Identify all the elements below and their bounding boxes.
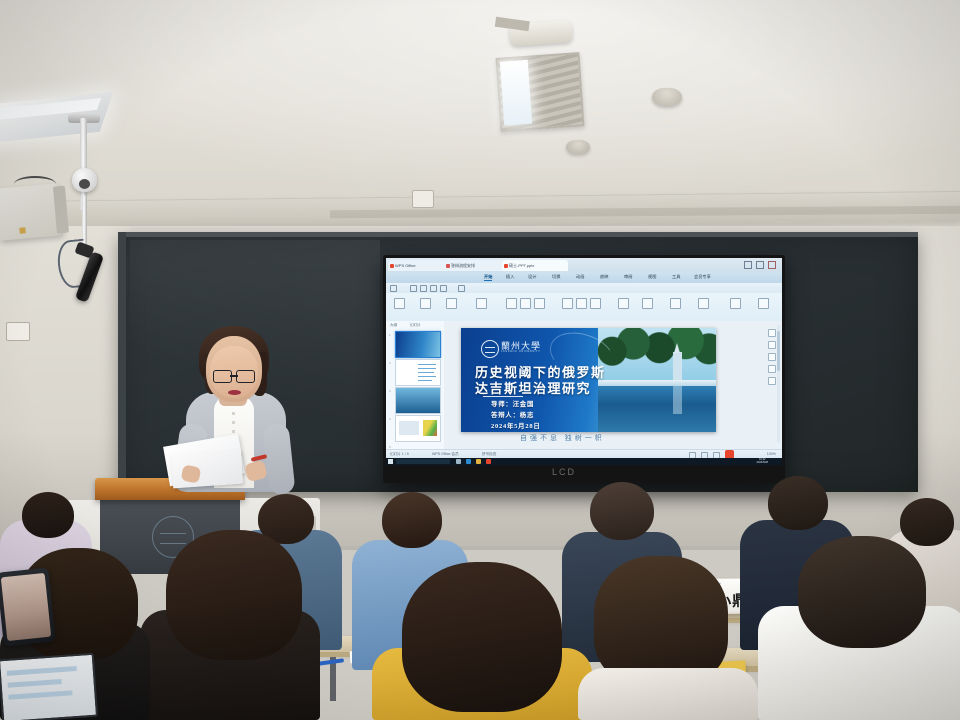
university-motto: 自强不息 独树一帜 — [520, 433, 605, 443]
audience-torso — [578, 668, 758, 720]
taskbar-search-input[interactable] — [396, 459, 450, 464]
thumb-number: 4 — [389, 417, 391, 421]
maximize-icon[interactable] — [756, 261, 764, 269]
audience-head — [22, 492, 74, 538]
audience-head — [798, 536, 926, 648]
taskbar-clock[interactable]: 16:42 2024/5/28 — [756, 459, 768, 465]
ribbon-tab-review[interactable]: 审阅 — [624, 274, 632, 280]
eyeglasses-icon — [213, 370, 255, 382]
audience-head — [768, 476, 828, 530]
slide-advisor: 导师：汪金国 — [491, 399, 534, 408]
audience-head — [382, 492, 442, 548]
university-logo-icon — [481, 340, 499, 358]
bold-icon[interactable] — [506, 298, 517, 309]
ribbon-tab-animation[interactable]: 动画 — [576, 274, 584, 280]
shape-panel-icon[interactable] — [768, 341, 776, 349]
university-name-en: LANZHOU UNIVERSITY — [501, 350, 540, 353]
zoom-level-label[interactable]: 100% — [767, 452, 776, 456]
right-tool-rail[interactable] — [768, 329, 774, 429]
slide-thumbnail-1[interactable] — [395, 331, 441, 358]
start-button-icon[interactable] — [388, 459, 393, 464]
ribbon-tab-slideshow[interactable]: 放映 — [600, 274, 608, 280]
title-divider — [483, 396, 523, 397]
presenter-lips — [228, 390, 241, 395]
slide-thumbnail-panel[interactable]: 大纲 幻灯片 1 2 3 4 5 — [386, 321, 445, 449]
laptop-screen[interactable] — [0, 653, 98, 720]
blackboard-left-edge — [118, 232, 126, 492]
window-tab-bar: WPS Office 答辩流程安排 硕士-PPT.pptx — [386, 258, 782, 272]
slide-date: 2024年5月28日 — [491, 421, 541, 430]
windows-taskbar[interactable]: 16:42 2024/5/28 — [386, 458, 782, 465]
spellcheck-label[interactable]: 拼写检查 — [482, 452, 496, 457]
ribbon-tab-view[interactable]: 视图 — [648, 274, 656, 280]
vertical-scrollbar[interactable] — [777, 325, 780, 443]
ribbon-tab-bar: 开始 插入 设计 切换 动画 放映 审阅 视图 工具 会员专享 — [386, 272, 782, 283]
chevron-down-icon[interactable] — [458, 285, 465, 292]
slide-presenter: 答辩人：杨志 — [491, 410, 534, 419]
outline-tab[interactable]: 大纲 — [390, 323, 397, 328]
audience-head — [590, 482, 654, 540]
select-icon[interactable] — [758, 298, 769, 309]
smartphone-camera[interactable] — [0, 567, 56, 646]
member-label[interactable]: WPS Office 会员 — [432, 452, 459, 457]
design-panel-icon[interactable] — [768, 377, 776, 385]
blackboard-top-edge — [118, 232, 918, 237]
slide-thumbnail-4[interactable] — [395, 415, 441, 442]
audience-hair — [402, 562, 562, 712]
window-tab-label: 答辩流程安排 — [451, 263, 475, 269]
thumb-number: 2 — [389, 361, 391, 365]
align-center-icon[interactable] — [576, 298, 587, 309]
classroom-photo: LCD WPS Office 答辩流程安排 硕士-PPT.pptx 开始 插入 — [0, 0, 960, 720]
slide-title-line2: 达吉斯坦治理研究 — [475, 378, 665, 397]
close-icon[interactable] — [768, 261, 776, 269]
format-painter-icon[interactable] — [440, 285, 447, 292]
window-tab-label: WPS Office — [395, 263, 416, 268]
underline-icon[interactable] — [534, 298, 545, 309]
explorer-icon[interactable] — [476, 459, 481, 464]
arrange-icon[interactable] — [642, 298, 653, 309]
outline-icon[interactable] — [698, 298, 709, 309]
ribbon-tab-tools[interactable]: 工具 — [672, 274, 680, 280]
doc-icon — [446, 264, 450, 268]
slide-thumbnail-2[interactable] — [395, 359, 441, 386]
window-tab-0[interactable]: WPS Office — [388, 260, 446, 271]
thumb-number: 1 — [389, 333, 391, 337]
paste-icon[interactable] — [394, 298, 405, 309]
current-slide[interactable]: 蘭州大學 LANZHOU UNIVERSITY 历史视阈下的俄罗斯 达吉斯坦治理… — [461, 328, 716, 432]
save-icon[interactable] — [390, 285, 397, 292]
animation-panel-icon[interactable] — [768, 365, 776, 373]
thumb-number: 3 — [389, 389, 391, 393]
audience-head — [900, 498, 954, 546]
ribbon-tab-home[interactable]: 开始 — [484, 274, 492, 281]
wps-icon[interactable] — [486, 459, 491, 464]
slides-tab[interactable]: 幻灯片 — [410, 323, 421, 328]
slide-editing-stage[interactable]: 蘭州大學 LANZHOU UNIVERSITY 历史视阈下的俄罗斯 达吉斯坦治理… — [444, 321, 782, 449]
slide-count-label: 幻灯片 1 / 5 — [390, 452, 409, 457]
smoke-detector-icon — [566, 140, 590, 154]
air-conditioning-vent — [496, 52, 585, 132]
ribbon-toolbar — [386, 293, 782, 321]
ribbon-tab-design[interactable]: 设计 — [528, 274, 536, 280]
wps-icon — [390, 264, 394, 268]
browser-icon[interactable] — [466, 459, 471, 464]
slide-thumbnail-3[interactable] — [395, 387, 441, 414]
undo-icon[interactable] — [410, 285, 417, 292]
window-tab-2[interactable]: 硕士-PPT.pptx — [502, 260, 568, 271]
task-view-icon[interactable] — [456, 459, 461, 464]
audience-hair — [594, 556, 728, 686]
light-fixture-top — [509, 20, 572, 46]
ribbon-tab-transition[interactable]: 切换 — [552, 274, 560, 280]
align-right-icon[interactable] — [590, 298, 601, 309]
clock-date: 2024/5/28 — [756, 462, 768, 465]
window-tab-1[interactable]: 答辩流程安排 — [444, 260, 504, 271]
ppt-icon — [504, 264, 508, 268]
minimize-icon[interactable] — [744, 261, 752, 269]
layout-icon[interactable] — [446, 298, 457, 309]
ribbon-tab-insert[interactable]: 插入 — [506, 274, 514, 280]
fill-icon[interactable] — [670, 298, 681, 309]
picture-panel-icon[interactable] — [768, 353, 776, 361]
redo-icon[interactable] — [420, 285, 427, 292]
new-slide-icon[interactable] — [420, 298, 431, 309]
italic-icon[interactable] — [520, 298, 531, 309]
format-panel-icon[interactable] — [768, 329, 776, 337]
shape-icon[interactable] — [618, 298, 629, 309]
ceiling-camera-icon — [72, 168, 97, 192]
wall-outlet — [412, 190, 434, 208]
audience-hair — [166, 530, 302, 660]
window-tab-label: 硕士-PPT.pptx — [509, 263, 534, 269]
ribbon-tab-member[interactable]: 会员专享 — [694, 274, 711, 280]
font-icon[interactable] — [476, 298, 487, 309]
wall-outlet — [6, 322, 30, 341]
smoke-detector-icon — [652, 88, 682, 106]
print-icon[interactable] — [430, 285, 437, 292]
find-icon[interactable] — [730, 298, 741, 309]
align-left-icon[interactable] — [562, 298, 573, 309]
wall-speaker-icon — [0, 183, 62, 240]
display-brand-label: LCD — [552, 467, 576, 477]
quick-access-toolbar — [386, 283, 782, 293]
computer-screen[interactable]: WPS Office 答辩流程安排 硕士-PPT.pptx 开始 插入 设计 切… — [386, 258, 782, 465]
